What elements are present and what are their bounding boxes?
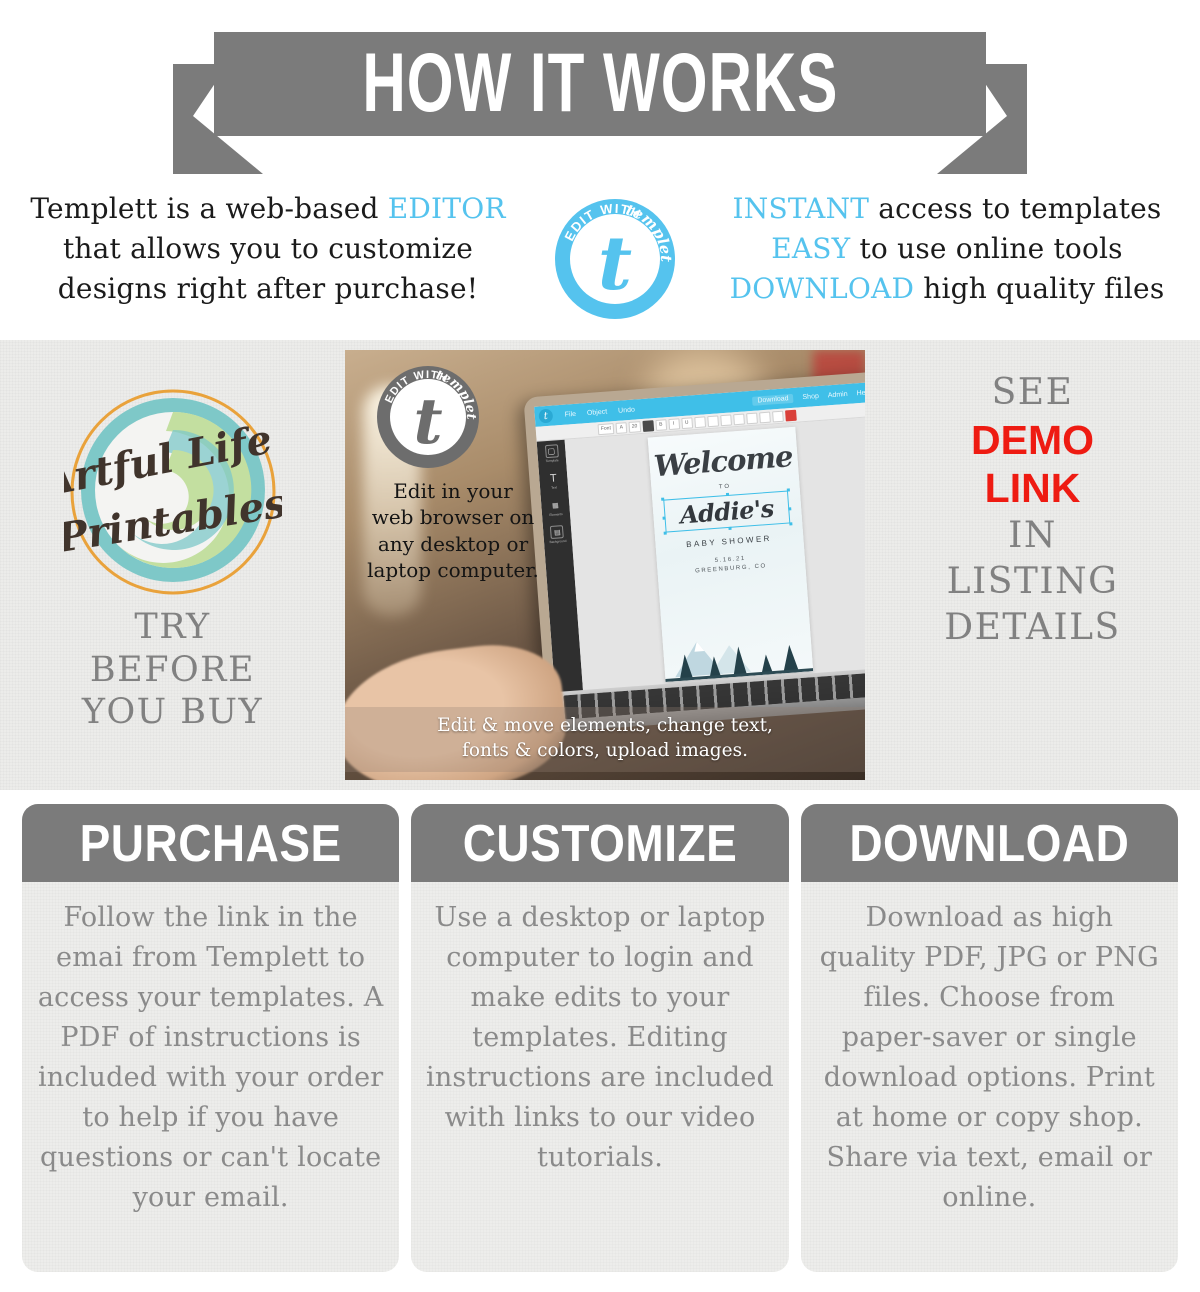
intro-right-line-1: INSTANT access to templates (712, 189, 1182, 229)
toolbar-opacity-icon[interactable] (759, 411, 771, 423)
how-it-works-infographic: HOW IT WORKS Templett is a web-based EDI… (0, 0, 1200, 1292)
try-line-1: BEFORE (82, 649, 263, 692)
step-card-download-body: Download as high quality PDF, JPG or PNG… (801, 882, 1178, 1272)
demo-line-see: SEE (992, 370, 1074, 416)
intro-instant-word: INSTANT (733, 192, 870, 225)
app-download-button[interactable]: Download (752, 393, 794, 405)
shop-column: Artful Life Printables TRY BEFORE YOU BU… (0, 340, 345, 790)
demo-line-demo: DEMO (971, 416, 1094, 464)
photo-caption-mid-2: any desktop or (363, 531, 543, 557)
step-card-customize: CUSTOMIZE Use a desktop or laptop comput… (411, 804, 788, 1272)
sidebar-item-text[interactable]: T Text (546, 471, 560, 490)
intro-left-editor-word: EDITOR (388, 192, 506, 225)
step-card-download-text: Download as high quality PDF, JPG or PNG… (815, 898, 1164, 1218)
templett-badge-icon: EDIT WITH templett EDITABLE TEMPLATE t (553, 197, 677, 321)
selection-handle-bl[interactable] (663, 532, 666, 535)
laptop-lid: t File Object Undo Download Shop Admin H… (523, 371, 865, 697)
intro-left-line-3: designs right after purchase! (18, 269, 518, 309)
photo-caption-mid-1: web browser on (363, 504, 543, 530)
app-help-link[interactable]: Help (856, 389, 865, 397)
app-body: ▢ Template T Text ▦ Elements (537, 417, 865, 696)
svg-text:t: t (413, 384, 442, 458)
intro-right-text: INSTANT access to templates EASY to use … (712, 183, 1182, 308)
step-card-purchase-header: PURCHASE (22, 804, 399, 882)
photo-caption-mid-3: laptop computer. (363, 557, 543, 583)
toolbar-align-left-icon[interactable] (694, 416, 706, 428)
intro-right-line-1b: access to templates (869, 192, 1161, 225)
laptop-screen: t File Object Undo Download Shop Admin H… (534, 382, 865, 696)
step-card-purchase: PURCHASE Follow the link in the emai fro… (22, 804, 399, 1272)
toolbar-rotate-icon[interactable] (746, 412, 758, 424)
selection-handle-bc[interactable] (728, 527, 731, 530)
intro-left-line-1a: Templett is a web-based (30, 192, 387, 225)
intro-right-line-3: DOWNLOAD high quality files (712, 269, 1182, 309)
app-menu: File Object Undo (565, 406, 636, 418)
app-menu-file[interactable]: File (565, 410, 577, 418)
photo-caption-middle: Edit in your web browser on any desktop … (363, 478, 543, 584)
selection-handle-tl[interactable] (661, 498, 664, 501)
toolbar-align-right-icon[interactable] (720, 414, 732, 426)
step-card-download-header: DOWNLOAD (801, 804, 1178, 882)
try-before-you-buy-text: TRY BEFORE YOU BUY (82, 606, 263, 734)
header-banner: HOW IT WORKS (0, 0, 1200, 175)
sidebar-item-elements[interactable]: ▦ Elements (548, 498, 563, 517)
middle-band: Artful Life Printables TRY BEFORE YOU BU… (0, 340, 1200, 790)
intro-row: Templett is a web-based EDITOR that allo… (0, 175, 1200, 340)
selection-handle-ml[interactable] (662, 516, 665, 519)
step-card-customize-header: CUSTOMIZE (411, 804, 788, 882)
intro-download-word: DOWNLOAD (730, 272, 915, 305)
elements-icon: ▦ (548, 498, 562, 512)
step-card-customize-title: CUSTOMIZE (463, 813, 738, 873)
toolbar-bold-button[interactable]: B (655, 419, 667, 431)
toolbar-align-center-icon[interactable] (707, 415, 719, 427)
photo-caption-bottom: Edit & move elements, change text, fonts… (345, 707, 865, 772)
toolbar-font-style-icon[interactable]: A (615, 422, 627, 434)
steps-row: PURCHASE Follow the link in the emai fro… (0, 790, 1200, 1292)
photo-caption-bottom-0: Edit & move elements, change text, (345, 714, 865, 738)
toolbar-delete-icon[interactable] (785, 409, 797, 421)
svg-text:t: t (598, 221, 632, 307)
ribbon-body: HOW IT WORKS (214, 32, 986, 136)
templett-badge-photo-icon: EDIT WITH templett EDITABLE TEMPLATE t (375, 364, 481, 470)
page-title: HOW IT WORKS (362, 42, 838, 126)
toolbar-font-select[interactable]: Font (598, 423, 615, 435)
step-card-customize-text: Use a desktop or laptop computer to logi… (425, 898, 774, 1178)
app-menu-object[interactable]: Object (587, 408, 608, 416)
template-icon: ▢ (544, 444, 558, 458)
intro-left-text: Templett is a web-based EDITOR that allo… (18, 183, 518, 308)
photo-caption-mid-0: Edit in your (363, 478, 543, 504)
artful-life-printables-logo: Artful Life Printables (64, 382, 282, 600)
app-logo-icon: t (538, 409, 553, 424)
intro-left-line-2: that allows you to customize (18, 229, 518, 269)
sidebar-label-template: Template (545, 458, 558, 463)
toolbar-text-color-swatch[interactable] (642, 420, 654, 432)
demo-line-link: LINK (985, 464, 1081, 512)
demo-link-column: SEE DEMO LINK IN LISTING DETAILS (865, 340, 1200, 790)
step-card-purchase-text: Follow the link in the emai from Templet… (36, 898, 385, 1218)
app-shop-link[interactable]: Shop (802, 392, 819, 400)
selection-handle-tr[interactable] (787, 488, 790, 491)
selection-handle-br[interactable] (790, 522, 793, 525)
step-card-purchase-title: PURCHASE (80, 813, 342, 873)
demo-line-in: IN (1008, 513, 1057, 559)
intro-right-line-2: EASY to use online tools (712, 229, 1182, 269)
text-icon: T (546, 471, 560, 485)
selection-handle-tc[interactable] (725, 493, 728, 496)
invite-template[interactable]: Welcome TO Addie's (647, 427, 813, 682)
intro-right-line-2b: to use online tools (850, 232, 1122, 265)
intro-right-line-3b: high quality files (914, 272, 1164, 305)
app-menu-undo[interactable]: Undo (618, 406, 635, 414)
toolbar-duplicate-icon[interactable] (772, 410, 784, 422)
toolbar-italic-button[interactable]: I (668, 418, 680, 430)
selection-handle-mr[interactable] (789, 507, 792, 510)
demo-line-details: DETAILS (944, 605, 1120, 651)
invite-welcome-text[interactable]: Welcome (648, 439, 798, 484)
toolbar-font-size[interactable]: 20 (628, 421, 640, 433)
laptop-device: t File Object Undo Download Shop Admin H… (523, 371, 865, 726)
background-icon: ▤ (550, 525, 564, 539)
sidebar-label-background: Background (549, 539, 566, 544)
step-card-customize-body: Use a desktop or laptop computer to logi… (411, 882, 788, 1272)
toolbar-underline-button[interactable]: U (681, 417, 693, 429)
app-canvas[interactable]: Welcome TO Addie's (565, 417, 865, 694)
app-admin-link[interactable]: Admin (828, 390, 848, 398)
app-actions: Download Shop Admin Help (752, 387, 865, 405)
selection-frame (663, 490, 791, 532)
invite-name-selection[interactable]: Addie's (663, 490, 791, 532)
toolbar-spacing-icon[interactable] (733, 413, 745, 425)
invite-mountain-trees-artwork (661, 609, 813, 682)
try-line-2: YOU BUY (82, 691, 263, 734)
sidebar-label-elements: Elements (549, 512, 563, 517)
invite-event-text[interactable]: BABY SHOWER (655, 532, 803, 552)
step-card-purchase-body: Follow the link in the emai from Templet… (22, 882, 399, 1272)
sidebar-label-text: Text (551, 485, 557, 489)
demo-line-listing: LISTING (947, 559, 1119, 605)
sidebar-item-background[interactable]: ▤ Background (548, 525, 566, 544)
try-line-0: TRY (82, 606, 263, 649)
photo-caption-bottom-1: fonts & colors, upload images. (345, 739, 865, 763)
sidebar-item-template[interactable]: ▢ Template (544, 444, 558, 463)
intro-easy-word: EASY (771, 232, 850, 265)
intro-left-line-1: Templett is a web-based EDITOR (18, 189, 518, 229)
laptop-photo-panel: t File Object Undo Download Shop Admin H… (345, 350, 865, 780)
step-card-download-title: DOWNLOAD (849, 813, 1129, 873)
step-card-download: DOWNLOAD Download as high quality PDF, J… (801, 804, 1178, 1272)
